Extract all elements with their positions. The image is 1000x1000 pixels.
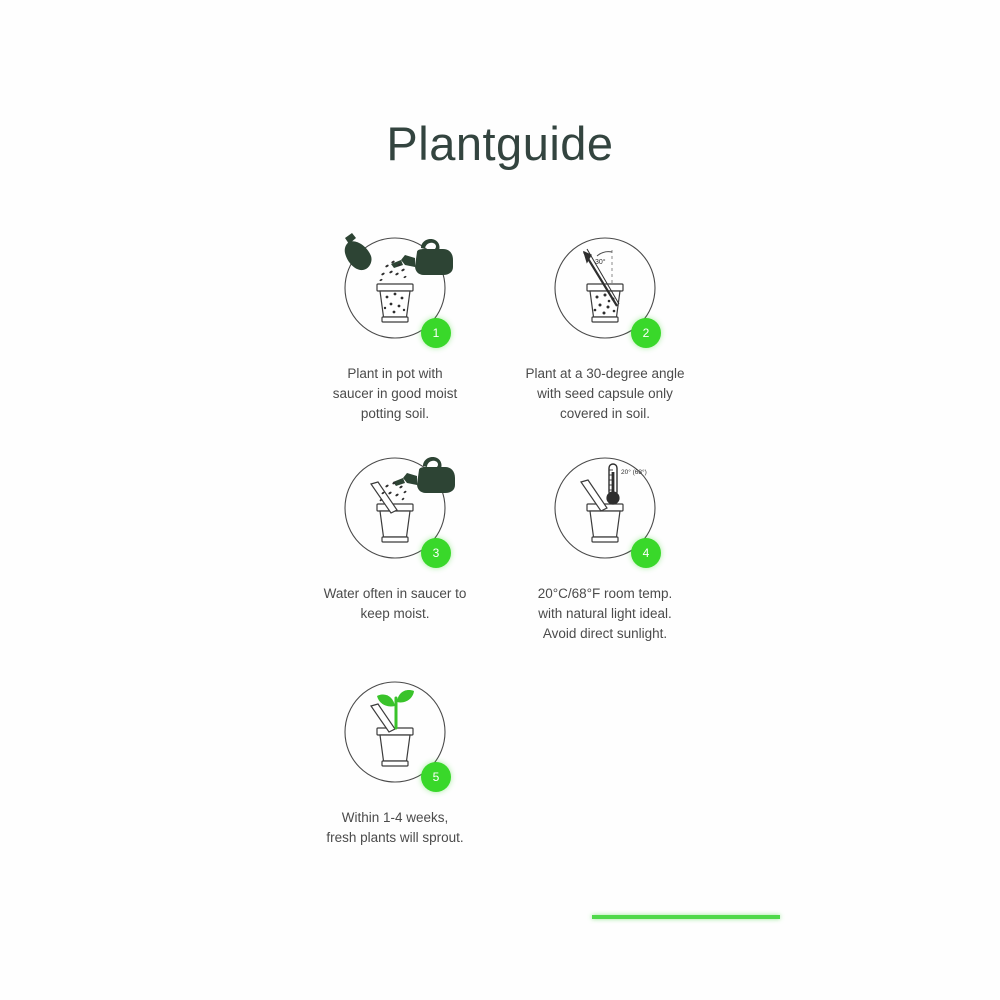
- caption-line: Plant in pot with: [295, 364, 495, 384]
- caption-line: Water often in saucer to: [295, 584, 495, 604]
- step-caption: Plant at a 30-degree angle with seed cap…: [505, 364, 705, 424]
- caption-line: potting soil.: [295, 404, 495, 424]
- caption-line: with seed capsule only: [505, 384, 705, 404]
- step-caption: Within 1-4 weeks, fresh plants will spro…: [295, 808, 495, 848]
- thermometer-icon: [607, 464, 619, 504]
- caption-line: saucer in good moist: [295, 384, 495, 404]
- step-item: 5 Within 1-4 weeks, fresh plants will sp…: [290, 666, 500, 848]
- step-badge: 4: [631, 538, 661, 568]
- pot-shape: [587, 504, 623, 542]
- step-badge: 3: [421, 538, 451, 568]
- step-badge: 5: [421, 762, 451, 792]
- angle-arc: [597, 252, 612, 256]
- caption-line: Plant at a 30-degree angle: [505, 364, 705, 384]
- step-caption: Plant in pot with saucer in good moist p…: [295, 364, 495, 424]
- plantguide-page: Plantguide: [0, 0, 1000, 1000]
- step-1-icon: 1: [325, 222, 465, 360]
- page-title: Plantguide: [0, 118, 1000, 170]
- step-item: 20° (68°) 4 20°C/68°F room temp. with na…: [500, 442, 710, 644]
- watering-can-icon: [391, 239, 453, 275]
- step-badge: 1: [421, 318, 451, 348]
- step-item: 30° 2 Plant at a 30-degree angle with se…: [500, 222, 710, 424]
- step-5-icon: 5: [325, 666, 465, 804]
- temperature-label: 20° (68°): [621, 468, 647, 476]
- step-3-icon: 3: [325, 442, 465, 580]
- watering-can-icon: [393, 457, 455, 493]
- steps-row: 1 Plant in pot with saucer in good moist…: [290, 222, 710, 442]
- step-caption: Water often in saucer to keep moist.: [295, 584, 495, 624]
- caption-line: Avoid direct sunlight.: [505, 624, 705, 644]
- steps-row: 5 Within 1-4 weeks, fresh plants will sp…: [290, 666, 710, 848]
- caption-line: with natural light ideal.: [505, 604, 705, 624]
- angle-label: 30°: [595, 258, 606, 266]
- step-badge: 2: [631, 318, 661, 348]
- caption-line: 20°C/68°F room temp.: [505, 584, 705, 604]
- pot-shape: [377, 284, 413, 322]
- step-2-icon: 30° 2: [535, 222, 675, 360]
- caption-line: fresh plants will sprout.: [295, 828, 495, 848]
- step-item: 3 Water often in saucer to keep moist.: [290, 442, 500, 624]
- caption-line: keep moist.: [295, 604, 495, 624]
- caption-line: Within 1-4 weeks,: [295, 808, 495, 828]
- step-4-icon: 20° (68°) 4: [535, 442, 675, 580]
- pot-shape: [377, 728, 413, 766]
- steps-row: 3 Water often in saucer to keep moist.: [290, 442, 710, 666]
- caption-line: covered in soil.: [505, 404, 705, 424]
- steps-grid: 1 Plant in pot with saucer in good moist…: [290, 222, 710, 848]
- step-caption: 20°C/68°F room temp. with natural light …: [505, 584, 705, 644]
- footer-accent-bar: [592, 915, 780, 919]
- pot-shape: [587, 284, 623, 322]
- step-item: 1 Plant in pot with saucer in good moist…: [290, 222, 500, 424]
- trowel-icon: [345, 233, 372, 270]
